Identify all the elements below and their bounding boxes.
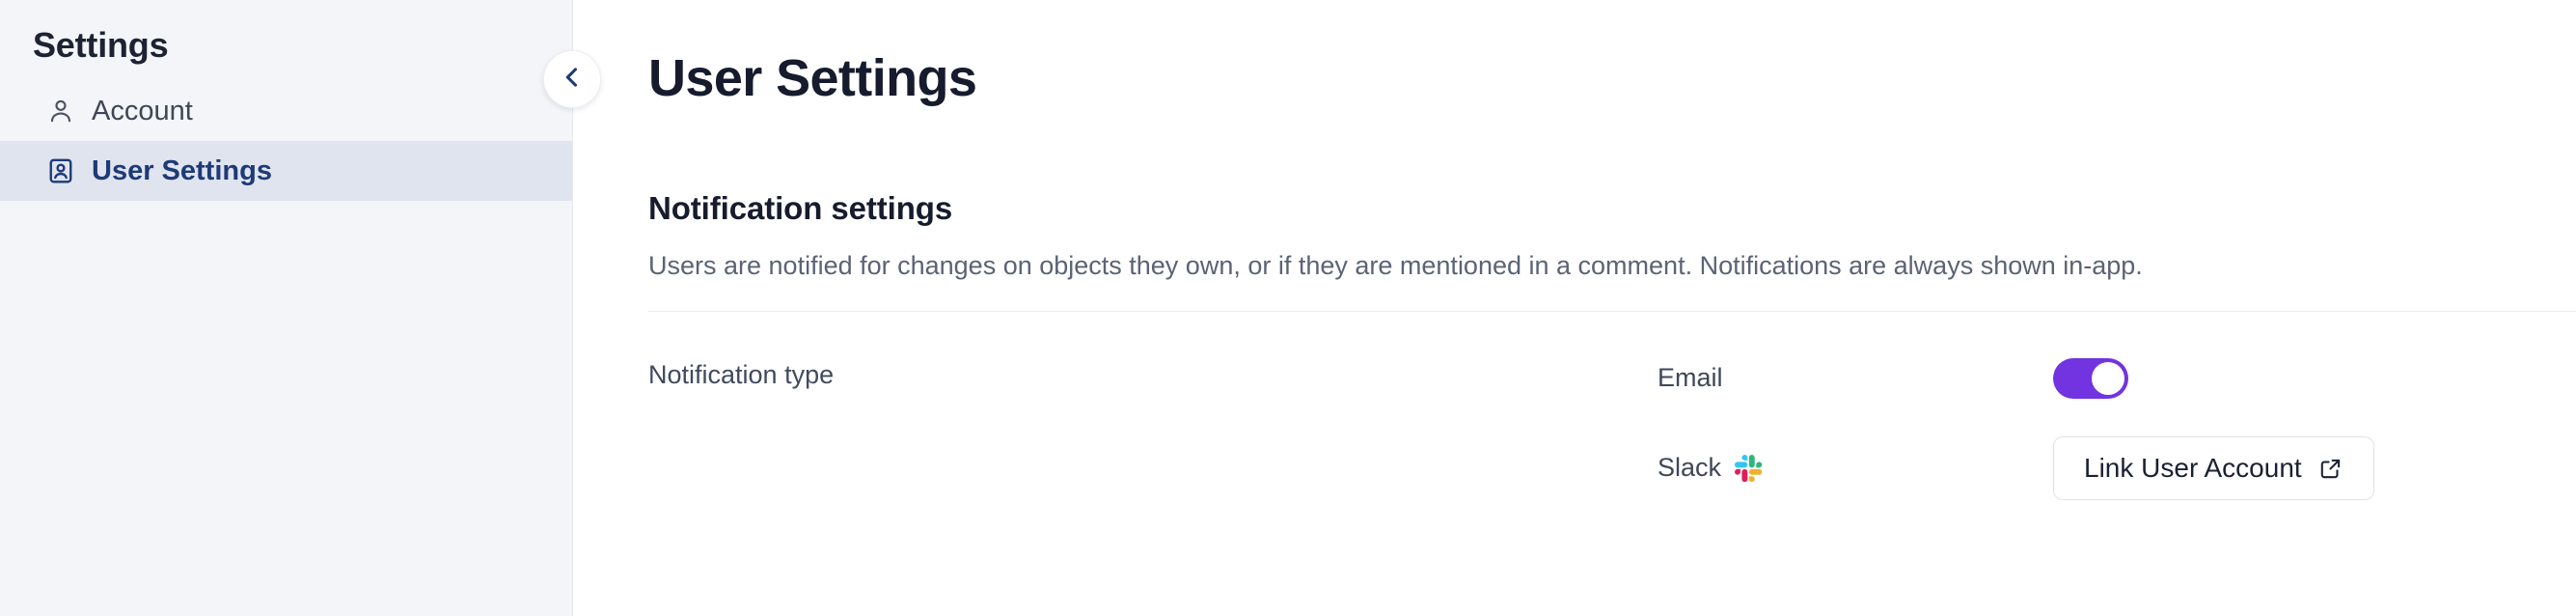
sidebar-title: Settings — [0, 0, 572, 66]
user-icon — [46, 97, 75, 126]
email-notification-toggle[interactable] — [2053, 358, 2128, 399]
chevron-left-icon — [559, 64, 586, 96]
email-notification-line: Email — [1658, 352, 2576, 405]
link-user-account-label: Link User Account — [2084, 453, 2302, 484]
slack-notification-line: Slack — [1658, 442, 2576, 494]
toggle-knob — [2092, 362, 2124, 395]
settings-sidebar: Settings Account — [0, 0, 573, 616]
settings-page: Settings Account — [0, 0, 2576, 616]
sidebar-item-user-settings[interactable]: User Settings — [0, 141, 572, 201]
section-title: Notification settings — [648, 190, 2576, 227]
section-description: Users are notified for changes on object… — [648, 248, 2576, 283]
notification-type-controls: Email Slack — [1658, 352, 2576, 532]
slack-label-group: Slack — [1658, 453, 2053, 483]
sidebar-nav: Account User Settings — [0, 81, 572, 201]
contact-card-icon — [46, 156, 75, 185]
sidebar-item-account[interactable]: Account — [0, 81, 572, 141]
slack-label: Slack — [1658, 453, 1721, 483]
section-divider — [648, 311, 2576, 312]
external-link-icon — [2318, 456, 2343, 481]
slack-logo-icon — [1735, 455, 1762, 482]
page-title: User Settings — [648, 50, 2576, 107]
sidebar-collapse-button[interactable] — [543, 50, 601, 108]
link-user-account-button[interactable]: Link User Account — [2053, 436, 2374, 500]
email-label: Email — [1658, 363, 2053, 393]
main-content: User Settings Notification settings User… — [573, 0, 2576, 616]
notification-type-label: Notification type — [648, 352, 1658, 390]
sidebar-item-label: User Settings — [92, 155, 272, 187]
notification-type-row: Notification type Email Slack — [648, 352, 2576, 532]
sidebar-item-label: Account — [92, 96, 193, 127]
